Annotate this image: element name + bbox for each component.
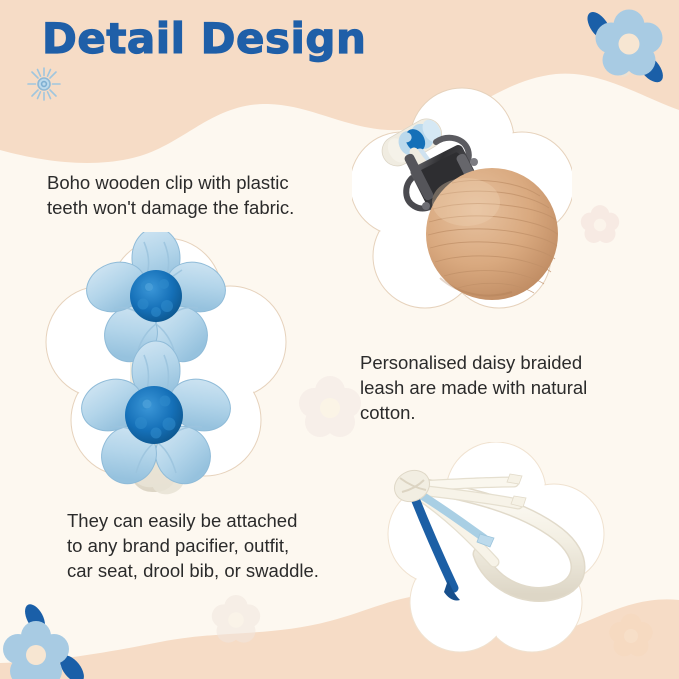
- wooden-bead: [426, 168, 558, 300]
- caption-attach: They can easily be attached to any brand…: [67, 508, 372, 583]
- page-title: Detail Design: [42, 14, 366, 63]
- caption-leash: Personalised daisy braided leash are mad…: [360, 350, 650, 425]
- sun-sparkle-icon: [28, 68, 60, 100]
- photo-crochet-flowers: [44, 232, 289, 497]
- caption-clip: Boho wooden clip with plastic teeth won'…: [47, 170, 367, 220]
- photo-braided-cords: [372, 442, 622, 657]
- photo-wooden-clip: [352, 82, 572, 332]
- detail-design-graphic: Detail Design: [0, 0, 679, 679]
